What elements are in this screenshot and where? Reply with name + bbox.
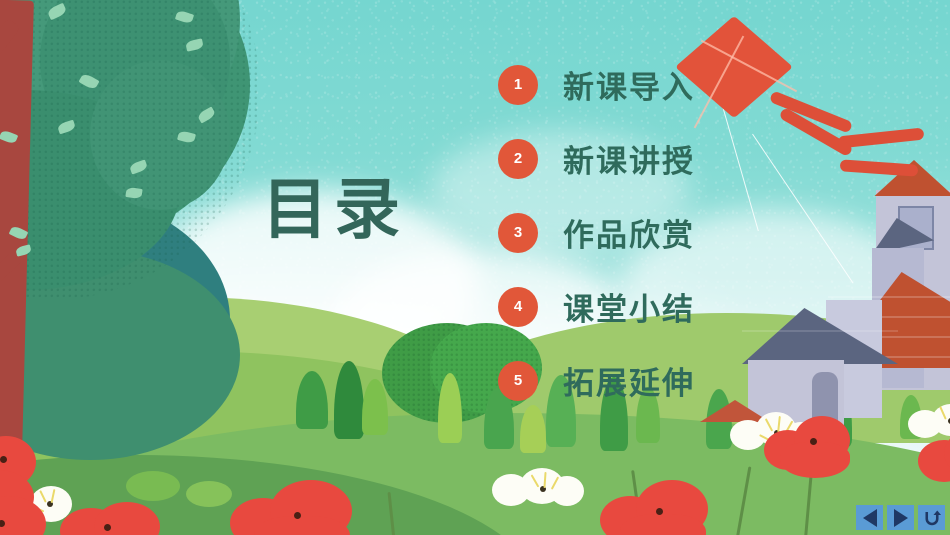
- toc-item-label: 课堂小结: [563, 284, 695, 329]
- toc-item-3[interactable]: 3 作品欣赏: [498, 210, 695, 255]
- toc-number-badge: 2: [498, 139, 538, 179]
- presentation-slide: 目录 1 新课导入 2 新课讲授 3 作品欣赏 4 课堂小结 5 拓展延伸: [0, 0, 950, 535]
- toc-item-2[interactable]: 2 新课讲授: [498, 136, 695, 181]
- previous-slide-button[interactable]: [856, 505, 883, 530]
- page-title: 目录: [262, 176, 406, 242]
- playback-controls: [856, 505, 945, 530]
- triangle-left-icon: [863, 509, 877, 527]
- toc-number-badge: 5: [498, 361, 538, 401]
- triangle-right-icon: [894, 509, 908, 527]
- toc-item-5[interactable]: 5 拓展延伸: [498, 358, 695, 403]
- toc-number-badge: 3: [498, 213, 538, 253]
- loop-arrow-icon: [923, 509, 941, 527]
- tree-icon: [0, 0, 260, 535]
- toc-item-1[interactable]: 1 新课导入: [498, 62, 695, 107]
- toc-number-badge: 1: [498, 65, 538, 105]
- replay-button[interactable]: [918, 505, 945, 530]
- toc-item-label: 新课讲授: [563, 136, 695, 181]
- toc-item-label: 作品欣赏: [563, 210, 695, 255]
- toc-item-label: 拓展延伸: [563, 358, 695, 403]
- toc-number-badge: 4: [498, 287, 538, 327]
- toc-item-label: 新课导入: [563, 62, 695, 107]
- next-slide-button[interactable]: [887, 505, 914, 530]
- toc-item-4[interactable]: 4 课堂小结: [498, 284, 695, 329]
